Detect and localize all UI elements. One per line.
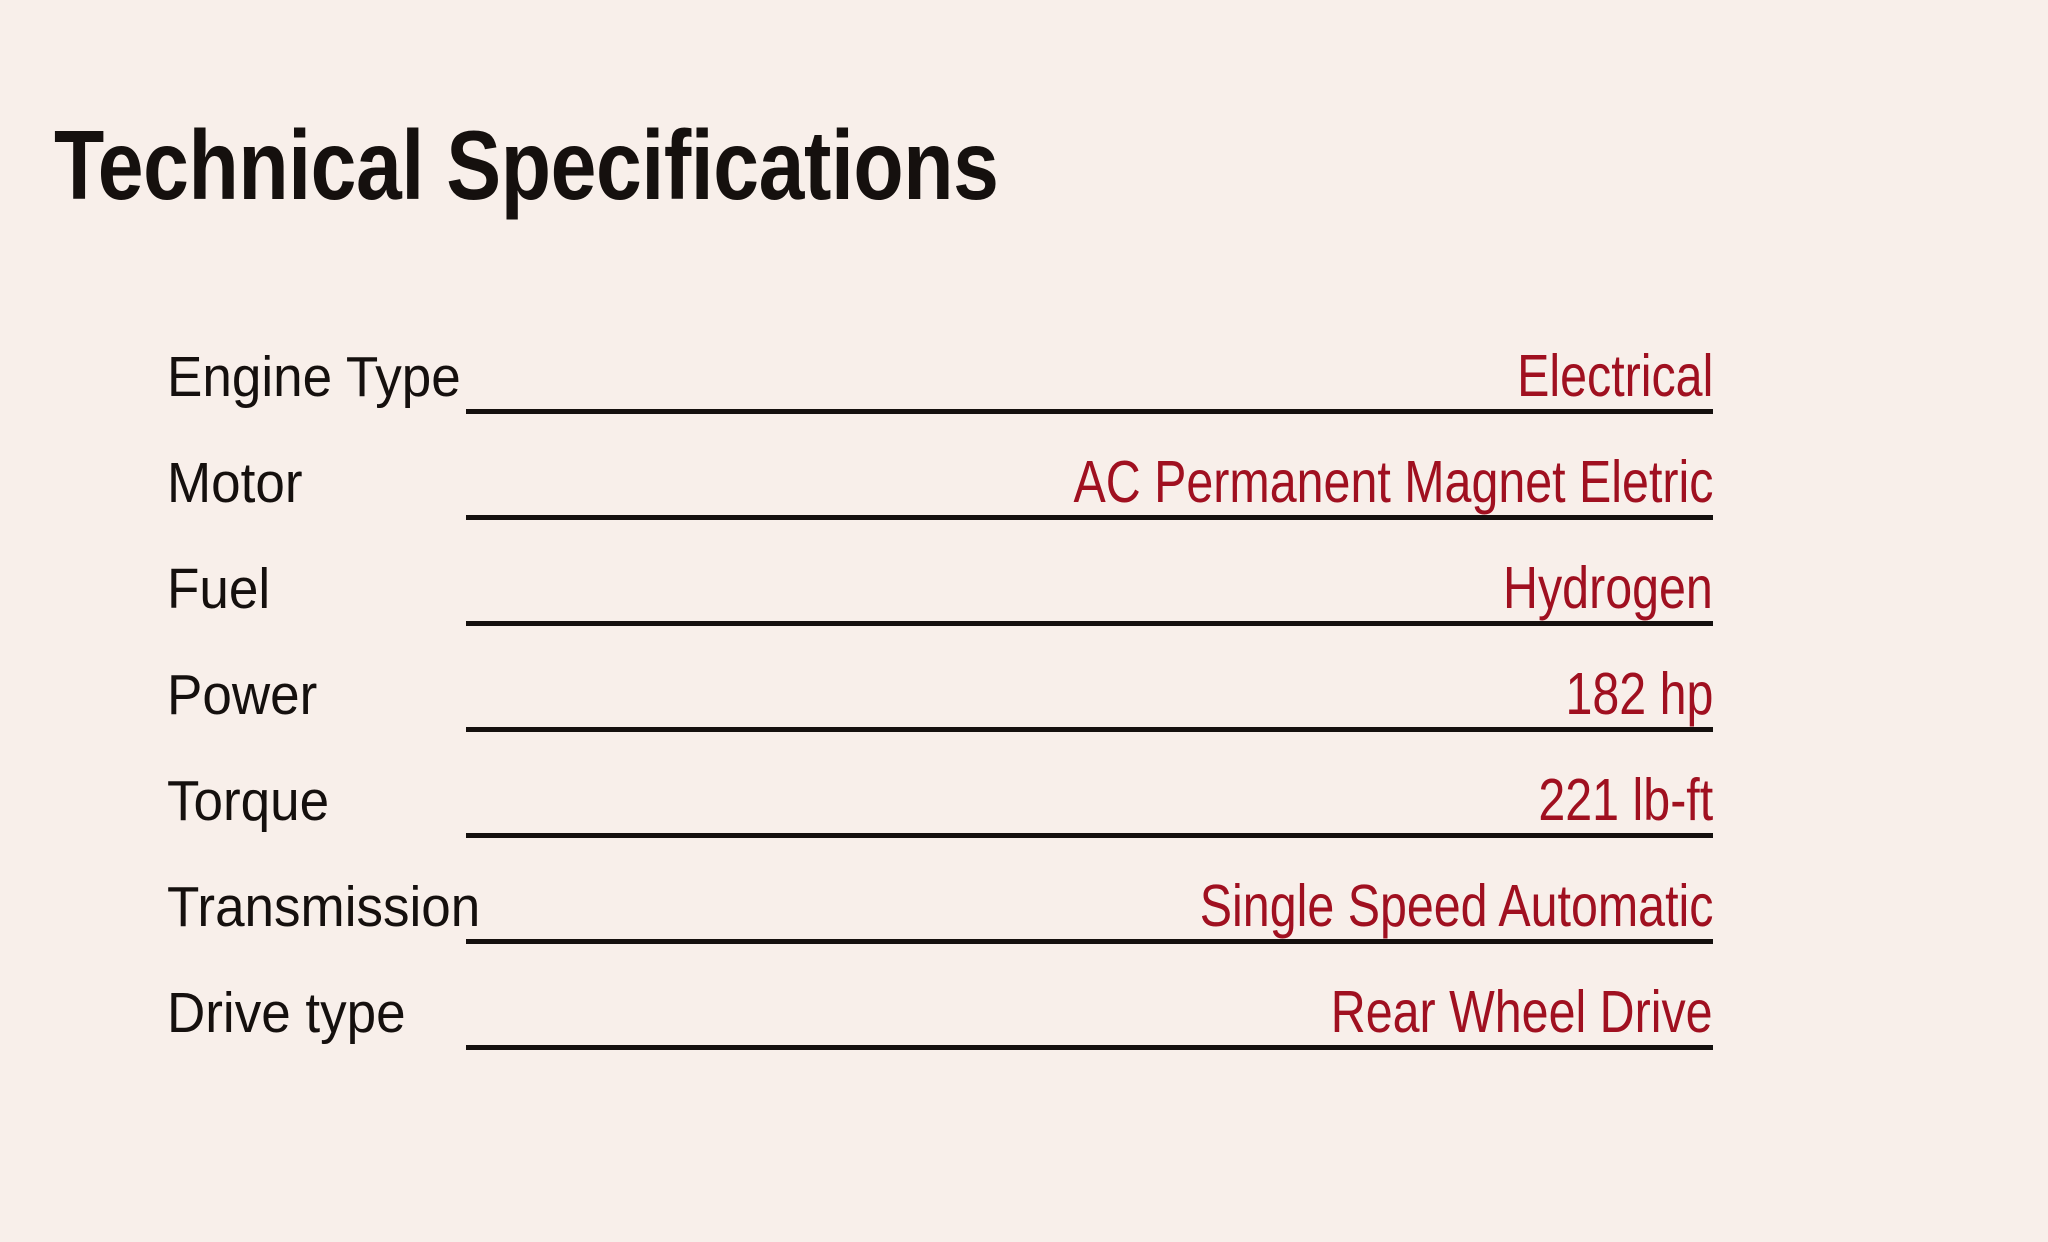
spec-label-power: Power xyxy=(167,667,317,724)
page-title: Technical Specifications xyxy=(54,114,999,217)
spec-label-drive-type: Drive type xyxy=(167,985,406,1042)
row-rule xyxy=(466,1045,1713,1050)
spec-value-drive-type: Rear Wheel Drive xyxy=(1331,983,1713,1042)
table-row: Fuel Hydrogen xyxy=(0,550,2048,656)
spec-value-engine-type: Electrical xyxy=(1517,347,1713,406)
spec-label-motor: Motor xyxy=(167,455,303,512)
row-rule xyxy=(466,409,1713,414)
spec-value-power: 182 hp xyxy=(1565,665,1713,724)
row-rule xyxy=(466,727,1713,732)
spec-label-torque: Torque xyxy=(167,773,329,830)
spec-value-fuel: Hydrogen xyxy=(1503,559,1713,618)
spec-value-motor: AC Permanent Magnet Eletric xyxy=(1073,453,1713,512)
table-row: Transmission Single Speed Automatic xyxy=(0,868,2048,974)
table-row: Engine Type Electrical xyxy=(0,338,2048,444)
table-row: Power 182 hp xyxy=(0,656,2048,762)
spec-value-torque: 221 lb-ft xyxy=(1538,771,1713,830)
spec-sheet-page: Technical Specifications Engine Type Ele… xyxy=(0,0,2048,1242)
row-rule xyxy=(466,515,1713,520)
specifications-table: Engine Type Electrical Motor AC Permanen… xyxy=(0,338,2048,1080)
spec-label-fuel: Fuel xyxy=(167,561,270,618)
table-row: Motor AC Permanent Magnet Eletric xyxy=(0,444,2048,550)
table-row: Drive type Rear Wheel Drive xyxy=(0,974,2048,1080)
row-rule xyxy=(466,621,1713,626)
spec-label-transmission: Transmission xyxy=(167,879,480,936)
table-row: Torque 221 lb-ft xyxy=(0,762,2048,868)
spec-label-engine-type: Engine Type xyxy=(167,349,461,406)
spec-value-transmission: Single Speed Automatic xyxy=(1199,877,1713,936)
row-rule xyxy=(466,939,1713,944)
row-rule xyxy=(466,833,1713,838)
